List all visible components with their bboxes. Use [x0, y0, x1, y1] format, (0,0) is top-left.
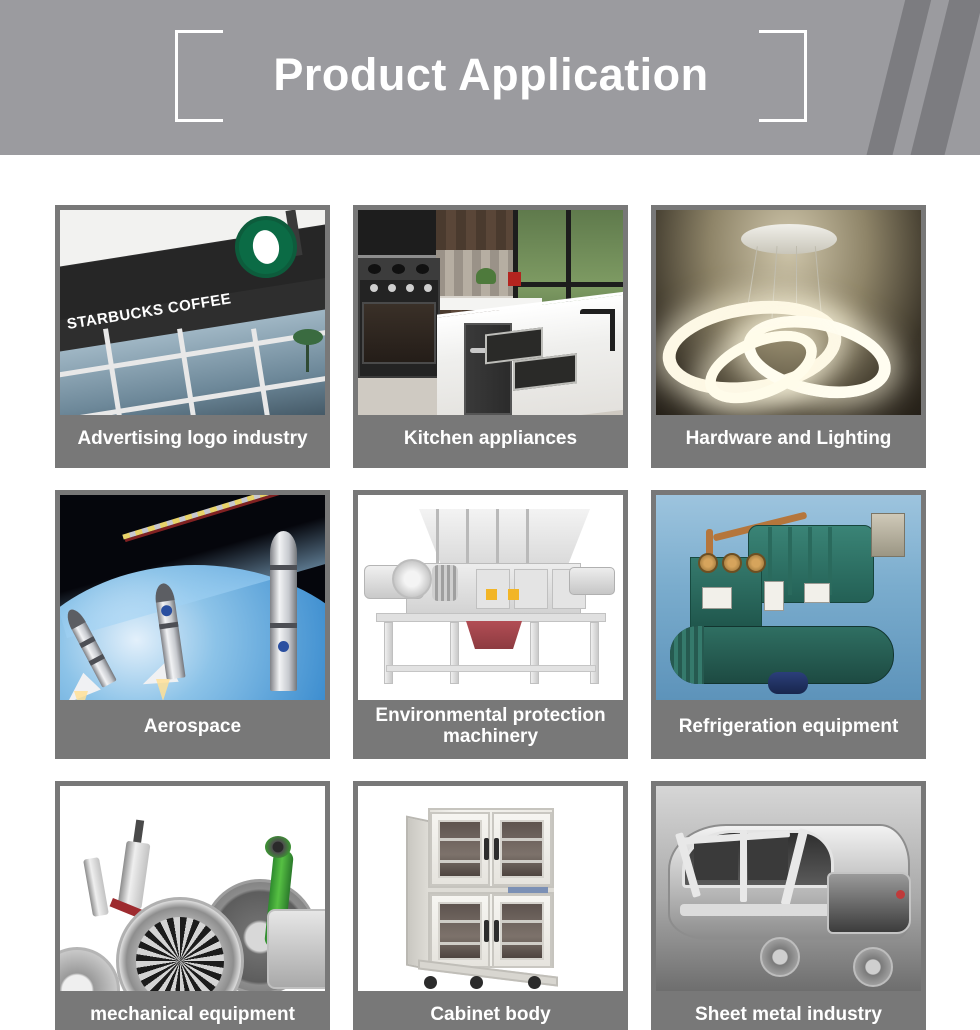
application-card[interactable]: Refrigeration equipment	[651, 490, 926, 759]
auto-mechanical-parts-image	[60, 786, 325, 991]
car-body-frame-image	[656, 786, 921, 991]
application-card[interactable]: Environmental protection machinery	[353, 490, 628, 759]
application-card[interactable]: Sheet metal industry	[651, 781, 926, 1030]
caster-wheel-icon	[470, 976, 483, 989]
caster-wheel-icon	[528, 976, 541, 989]
card-caption: Hardware and Lighting	[656, 415, 921, 463]
card-caption: Cabinet body	[358, 991, 623, 1030]
caster-wheel-icon	[424, 976, 437, 989]
application-card[interactable]: Cabinet body	[353, 781, 628, 1030]
application-card[interactable]: Hardware and Lighting	[651, 205, 926, 468]
card-caption: Environmental protection machinery	[358, 700, 623, 754]
page-header: Product Application	[0, 0, 980, 155]
title-frame: Product Application	[175, 30, 807, 122]
rockets-in-orbit-image	[60, 495, 325, 700]
industrial-shredder-image	[358, 495, 623, 700]
modern-kitchen-image	[358, 210, 623, 415]
card-caption: mechanical equipment	[60, 991, 325, 1030]
card-caption: Sheet metal industry	[656, 991, 921, 1030]
faucet-icon	[610, 309, 615, 351]
application-card[interactable]: STARBUCKS COFFEE Advertising logo indust…	[55, 205, 330, 468]
refrigeration-compressor-image	[656, 495, 921, 700]
card-caption: Aerospace	[60, 700, 325, 754]
tail-light-icon	[896, 890, 905, 899]
starbucks-storefront-image: STARBUCKS COFFEE	[60, 210, 325, 415]
card-caption: Kitchen appliances	[358, 415, 623, 463]
application-card[interactable]: Kitchen appliances	[353, 205, 628, 468]
application-card[interactable]: mechanical equipment	[55, 781, 330, 1030]
card-caption: Refrigeration equipment	[656, 700, 921, 754]
application-card[interactable]: Aerospace	[55, 490, 330, 759]
card-caption: Advertising logo industry	[60, 415, 325, 463]
application-card-grid: STARBUCKS COFFEE Advertising logo indust…	[0, 155, 980, 1030]
dry-storage-cabinet-image	[358, 786, 623, 991]
led-ring-chandelier-image	[656, 210, 921, 415]
page-title: Product Application	[175, 49, 807, 101]
